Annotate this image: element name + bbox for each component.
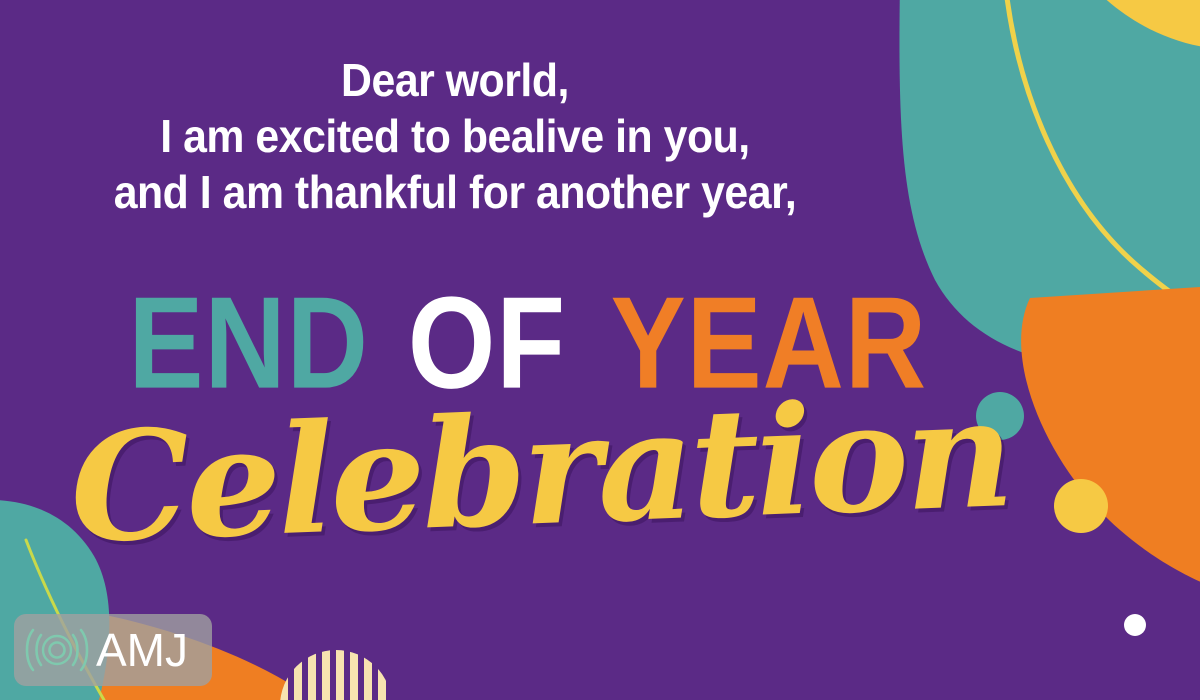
white-dot-right xyxy=(1124,614,1146,636)
broadcast-signal-icon xyxy=(24,622,90,678)
headline-word-end: END xyxy=(123,279,374,408)
greeting-line-3: and I am thankful for another year, xyxy=(32,164,878,220)
greeting-text-block: Dear world, I am excited to bealive in y… xyxy=(0,52,910,220)
greeting-line-1: Dear world, xyxy=(32,52,878,108)
script-word-celebration: Celebration xyxy=(0,375,1082,566)
greeting-line-2: I am excited to bealive in you, xyxy=(32,108,878,164)
amj-watermark-label: AMJ xyxy=(96,627,188,673)
amj-watermark: AMJ xyxy=(14,614,212,686)
end-of-year-celebration-poster: Dear world, I am excited to bealive in y… xyxy=(0,0,1200,700)
